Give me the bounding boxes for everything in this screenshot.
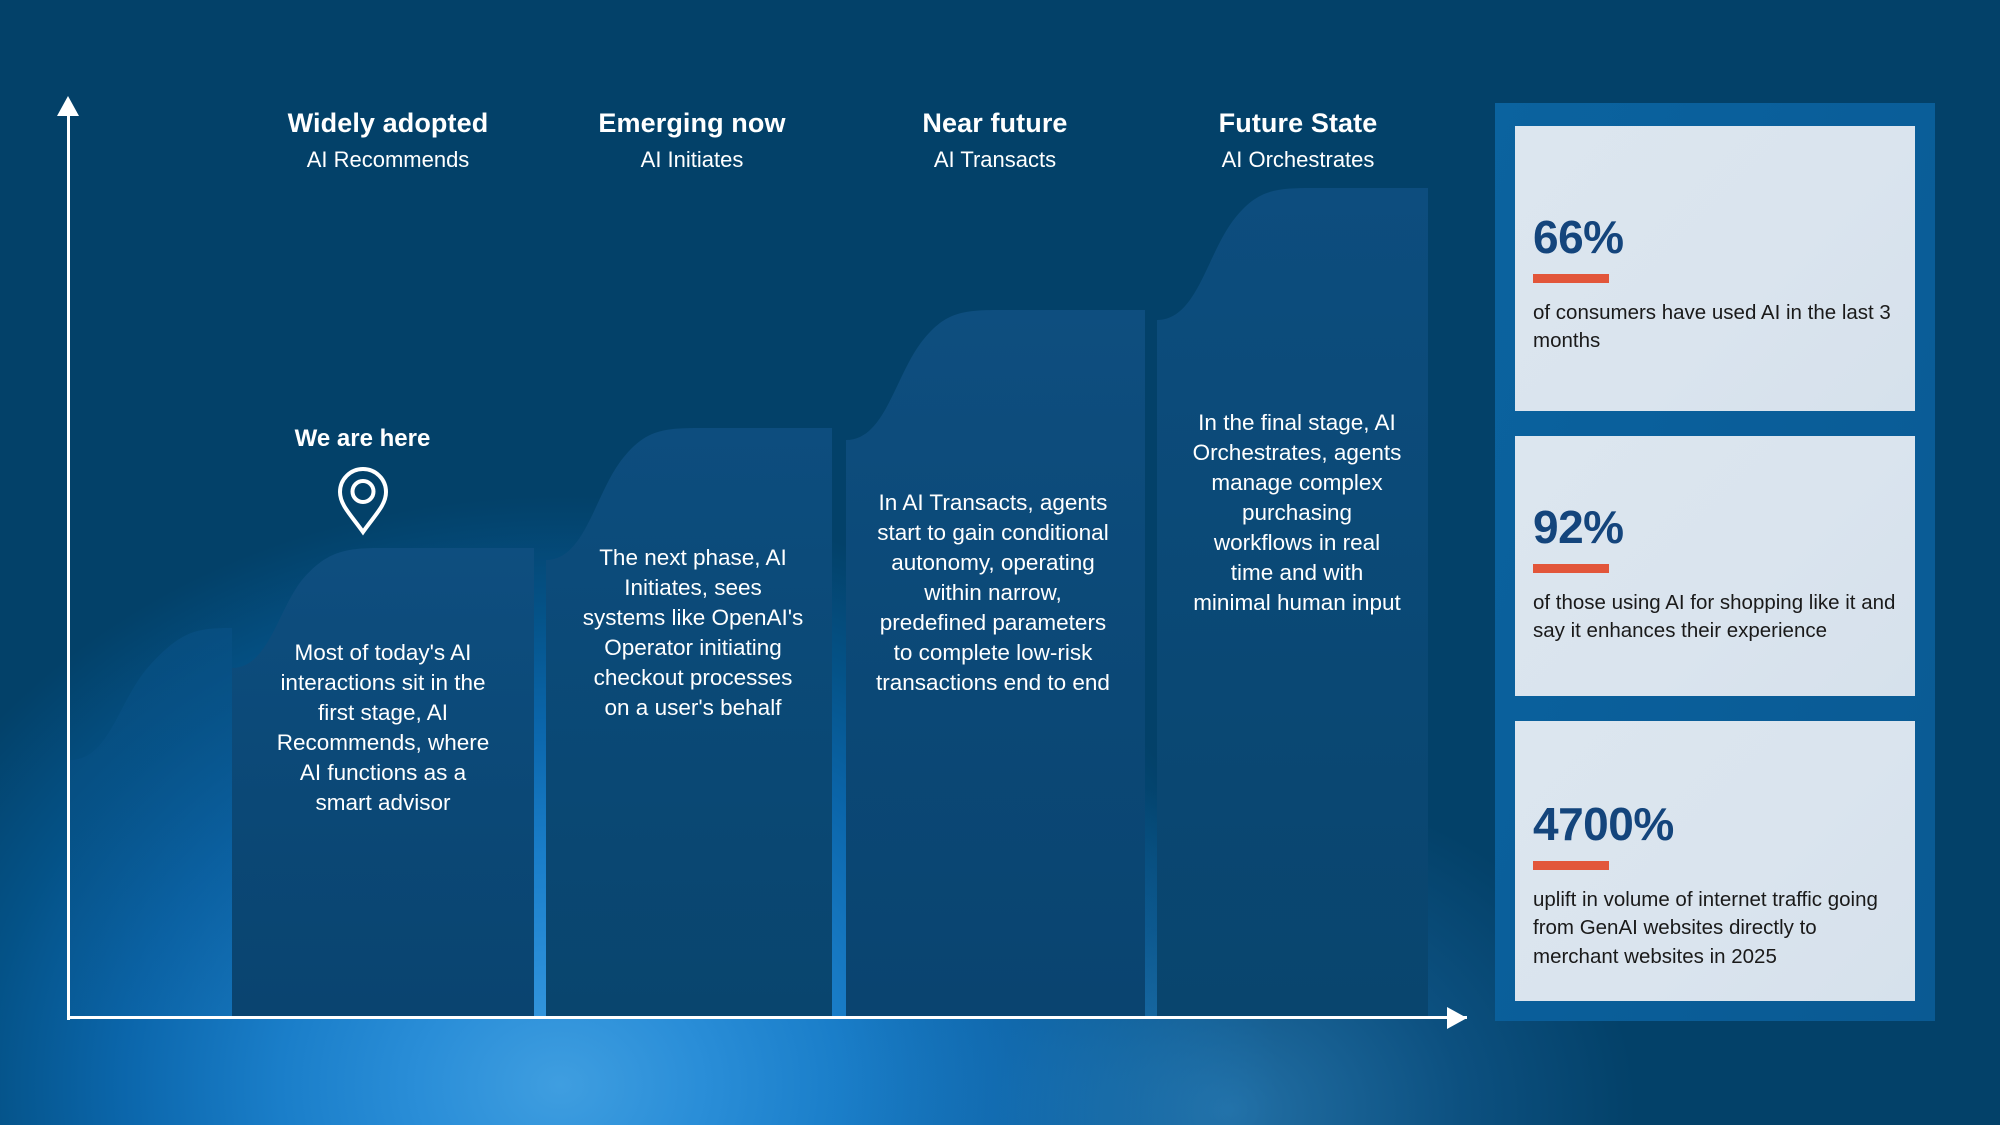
step-body-2: The next phase, AI Initiates, sees syste…: [565, 543, 821, 723]
we-are-here-marker: We are here: [250, 425, 475, 537]
infographic-canvas: Widely adopted AI Recommends Emerging no…: [0, 0, 2000, 1125]
step-subtitle: AI Transacts: [845, 147, 1145, 173]
stat-value: 66%: [1533, 214, 1899, 260]
stat-accent-rule: [1533, 564, 1609, 573]
arrow-right-icon: [1447, 1007, 1467, 1029]
stat-description: of consumers have used AI in the last 3 …: [1533, 299, 1899, 356]
we-are-here-label: We are here: [250, 425, 475, 453]
background-ramp: [70, 628, 232, 1016]
step-header-2: Emerging now AI Initiates: [542, 108, 842, 173]
stat-value: 4700%: [1533, 801, 1899, 847]
stat-value: 92%: [1533, 504, 1899, 550]
step-body-1: Most of today's AI interactions sit in t…: [258, 638, 508, 818]
stat-accent-rule: [1533, 274, 1609, 283]
step-title: Near future: [845, 108, 1145, 139]
stat-card: 4700% uplift in volume of internet traff…: [1515, 721, 1915, 1001]
stats-panel: 66% of consumers have used AI in the las…: [1495, 103, 1935, 1021]
stat-description: uplift in volume of internet traffic goi…: [1533, 886, 1899, 971]
step-header-1: Widely adopted AI Recommends: [238, 108, 538, 173]
step-body-4: In the final stage, AI Orchestrates, age…: [1172, 408, 1422, 617]
horizontal-axis: [67, 1016, 1467, 1019]
arrow-up-icon: [57, 96, 79, 116]
stat-accent-rule: [1533, 861, 1609, 870]
step-title: Future State: [1148, 108, 1448, 139]
step-subtitle: AI Recommends: [238, 147, 538, 173]
stat-card-content: 4700% uplift in volume of internet traff…: [1533, 801, 1899, 971]
map-pin-icon: [250, 465, 475, 537]
step-header-4: Future State AI Orchestrates: [1148, 108, 1448, 173]
stat-description: of those using AI for shopping like it a…: [1533, 589, 1899, 646]
stat-card-content: 66% of consumers have used AI in the las…: [1533, 214, 1899, 356]
stat-card: 66% of consumers have used AI in the las…: [1515, 126, 1915, 411]
step-subtitle: AI Orchestrates: [1148, 147, 1448, 173]
vertical-axis: [67, 110, 70, 1020]
step-title: Emerging now: [542, 108, 842, 139]
step-body-3: In AI Transacts, agents start to gain co…: [858, 488, 1128, 697]
step-header-3: Near future AI Transacts: [845, 108, 1145, 173]
stat-card: 92% of those using AI for shopping like …: [1515, 436, 1915, 696]
step-title: Widely adopted: [238, 108, 538, 139]
step-subtitle: AI Initiates: [542, 147, 842, 173]
stat-card-content: 92% of those using AI for shopping like …: [1533, 504, 1899, 646]
